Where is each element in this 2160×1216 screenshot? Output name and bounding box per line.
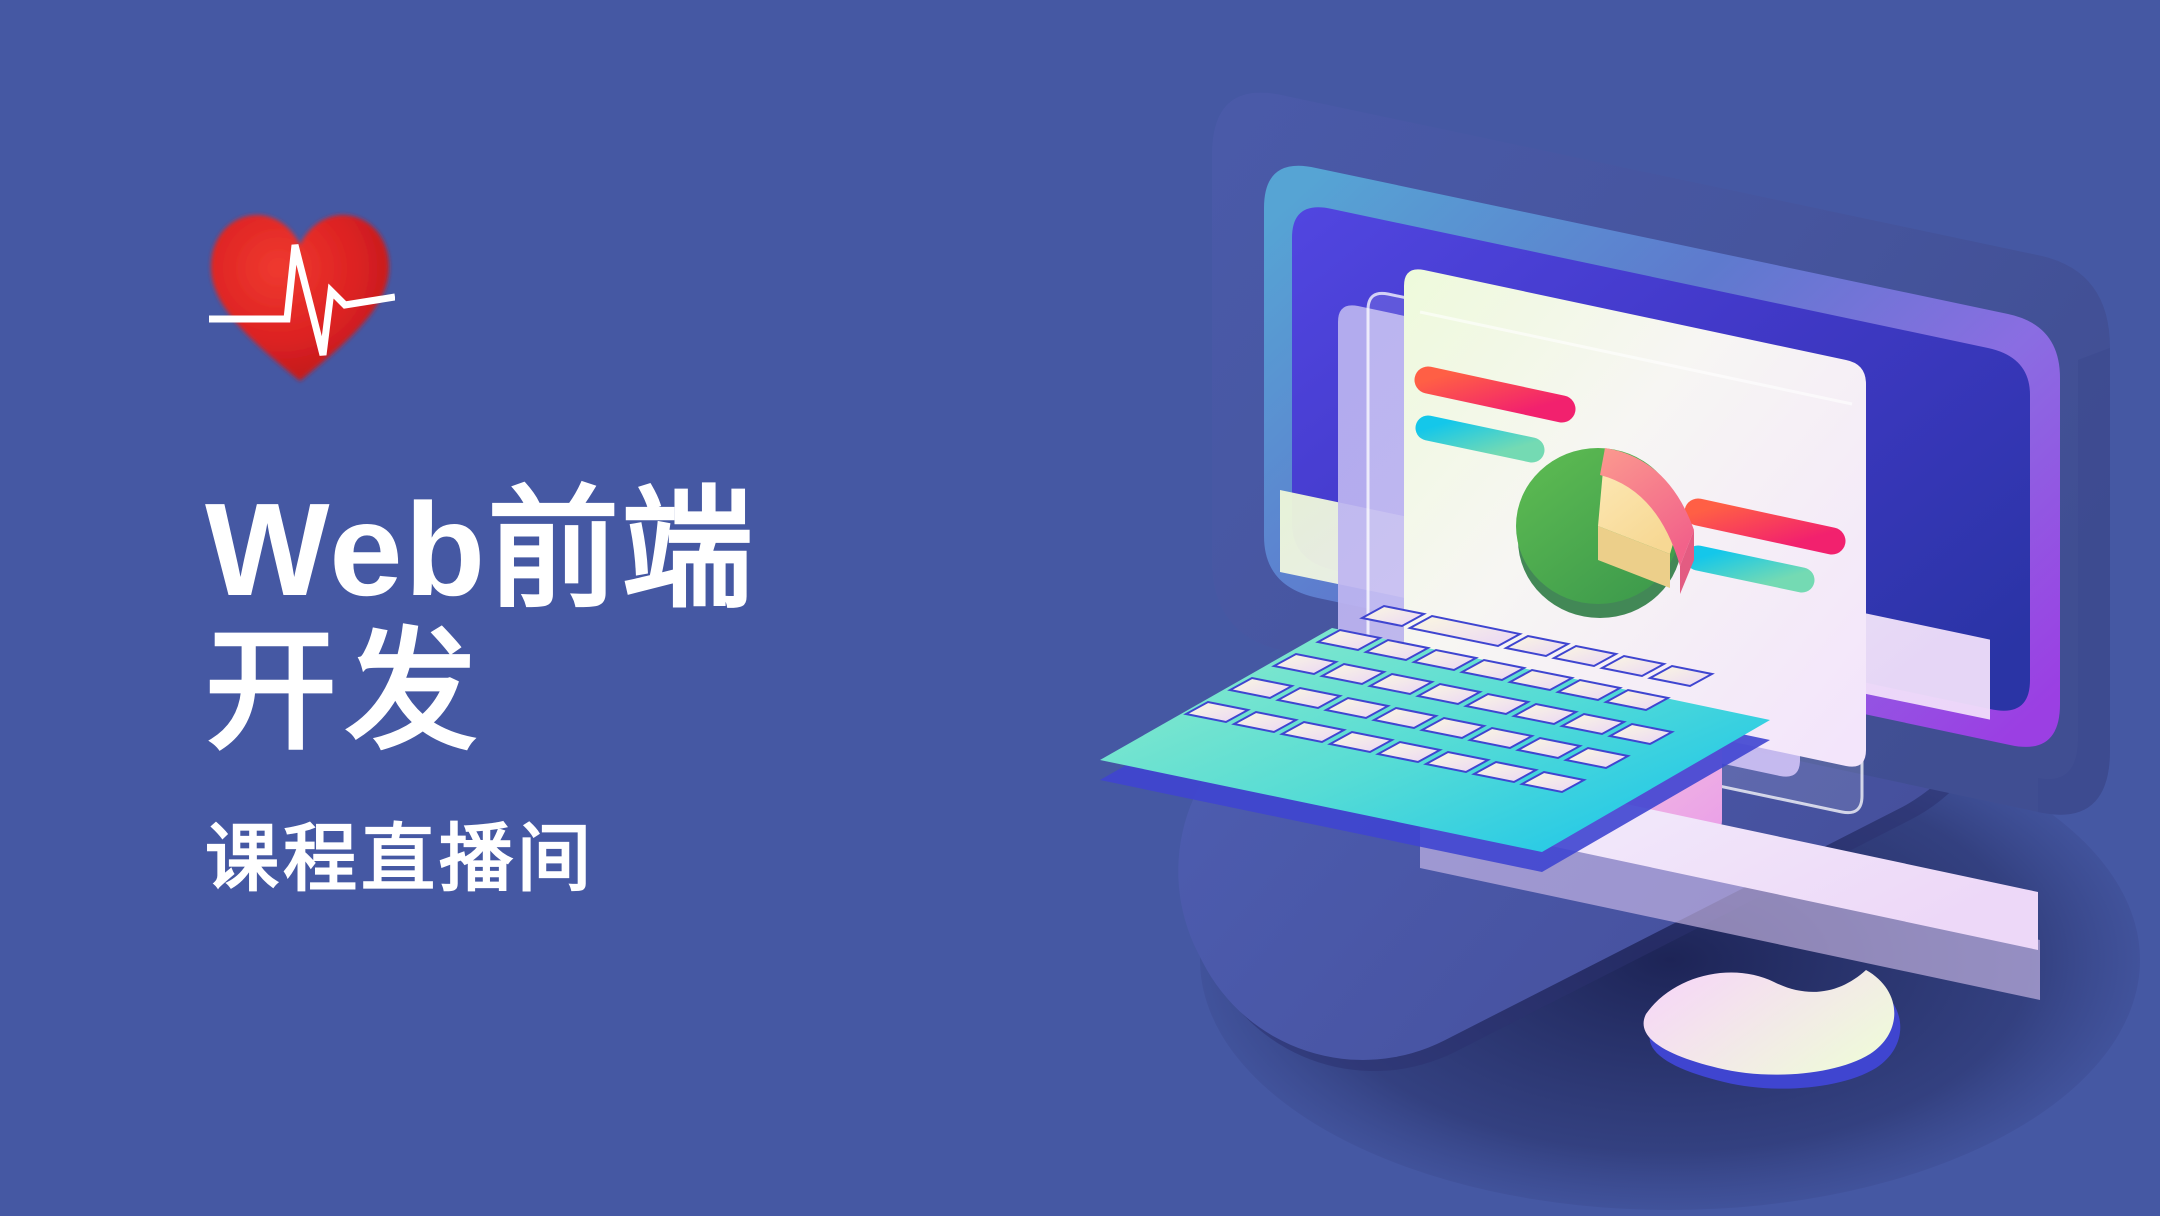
headline-block: Web前端 开发 课程直播间 bbox=[205, 205, 965, 896]
page-title-line1: Web前端 bbox=[205, 482, 965, 618]
page-title-line2: 开发 bbox=[205, 618, 965, 766]
page-subtitle: 课程直播间 bbox=[205, 822, 965, 896]
poster-canvas: Web前端 开发 课程直播间 bbox=[0, 0, 2160, 1216]
heart-pulse-icon bbox=[205, 205, 395, 390]
isometric-desktop-illustration bbox=[980, 60, 2160, 1216]
